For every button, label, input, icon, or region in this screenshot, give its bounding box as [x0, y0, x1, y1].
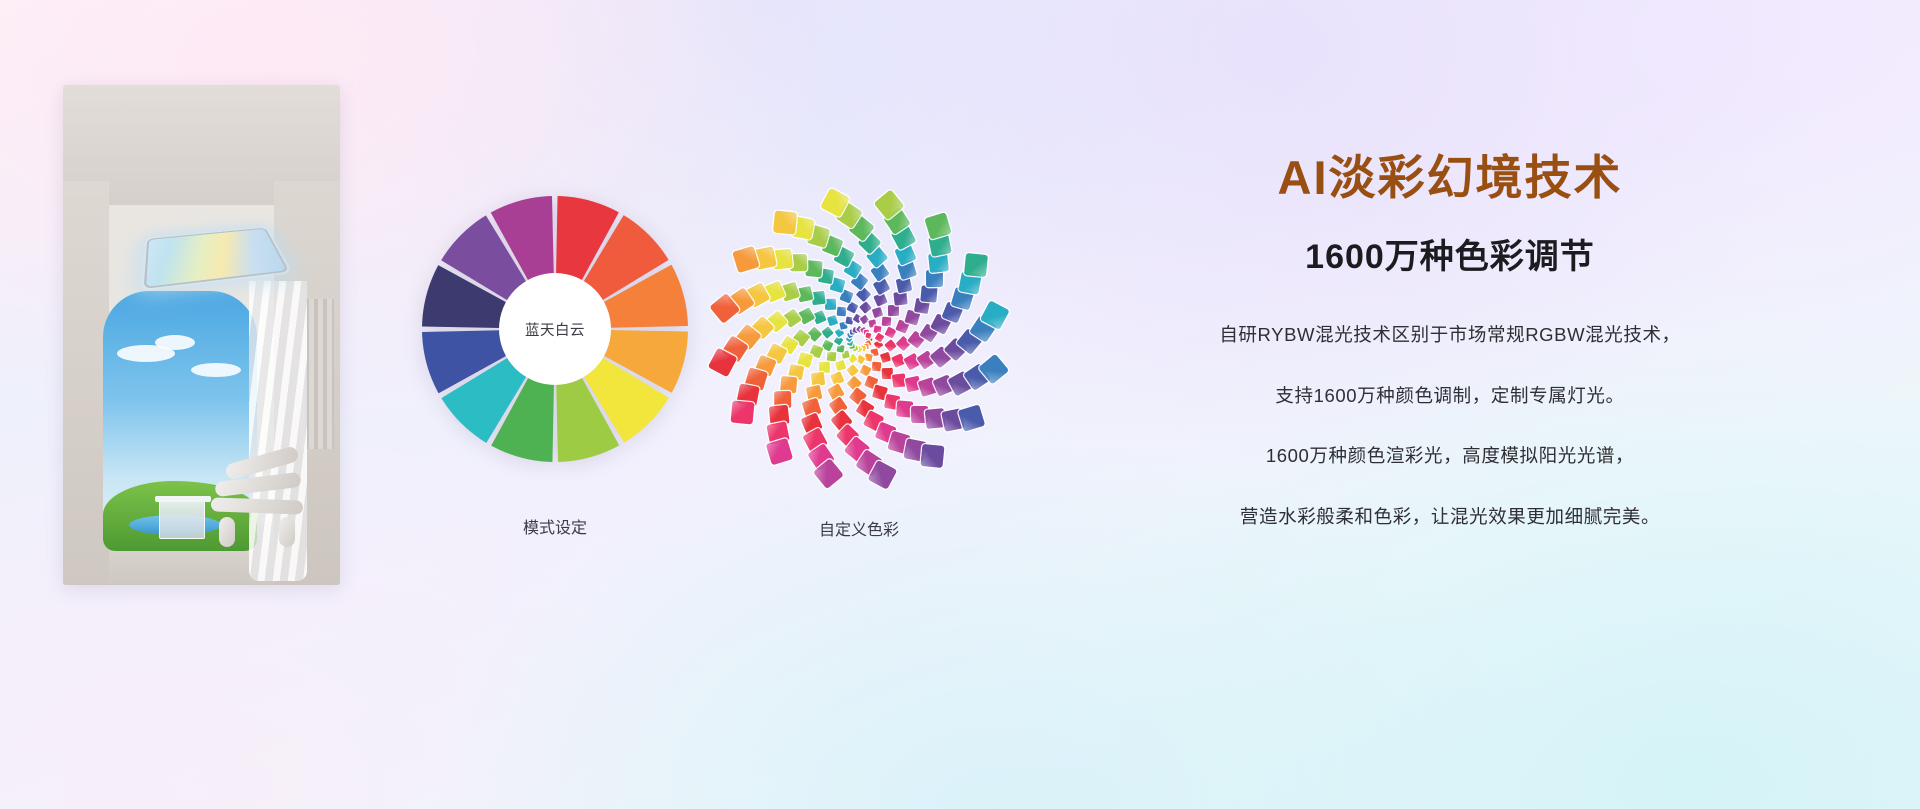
cloud-icon — [155, 335, 195, 350]
pinwheel-tile — [964, 253, 987, 276]
pinwheel-tile — [846, 364, 859, 377]
pinwheel-tile — [827, 352, 837, 362]
pinwheel-tile — [872, 361, 882, 371]
pinwheel-tile — [873, 292, 887, 306]
custom-color-figure: 自定义色彩 — [716, 196, 1002, 546]
mode-wheel-caption: 模式设定 — [422, 514, 688, 538]
cloud-icon — [191, 363, 241, 377]
color-pinwheel[interactable] — [716, 196, 1002, 482]
side-table — [159, 499, 205, 539]
pinwheel-tile — [921, 444, 944, 467]
color-wheel[interactable]: 蓝天白云 — [422, 196, 688, 462]
copy-block: AI淡彩幻境技术 1600万种色彩调节 自研RYBW混光技术区别于市场常规RGB… — [1020, 150, 1880, 526]
pinwheel-tile — [835, 360, 846, 371]
pinwheel-tile — [893, 292, 907, 306]
pinwheel-tile — [826, 315, 837, 326]
pinwheel-tile — [797, 285, 814, 302]
pinwheel-tile — [896, 277, 913, 294]
pinwheel-tile — [882, 368, 893, 379]
page-title: AI淡彩幻境技术 — [1020, 150, 1880, 205]
pinwheel-tile — [836, 307, 846, 317]
lounge-chair — [209, 455, 313, 547]
pinwheel-tile — [926, 270, 943, 287]
pinwheel-tile — [891, 353, 905, 367]
pinwheel-tile — [959, 405, 986, 432]
pinwheel-tile — [888, 305, 899, 316]
body-line: 自研RYBW混光技术区别于市场常规RGBW混光技术， — [1020, 326, 1880, 345]
pinwheel-tile — [884, 339, 897, 352]
body-copy: 自研RYBW混光技术区别于市场常规RGBW混光技术， 支持1600万种颜色调制，… — [1020, 326, 1880, 526]
body-line: 1600万种颜色渲彩光，高度模拟阳光光谱， — [1020, 447, 1880, 466]
pinwheel-tile — [805, 260, 822, 277]
body-line: 支持1600万种颜色调制，定制专属灯光。 — [1020, 387, 1880, 406]
pinwheel-tile — [731, 401, 754, 424]
pinwheel-tile — [873, 278, 890, 295]
pinwheel-tile — [881, 316, 891, 326]
pinwheel-tile — [880, 351, 891, 362]
pinwheel-tile — [773, 211, 796, 234]
pinwheel-tile — [766, 439, 793, 466]
color-wheel-hub[interactable]: 蓝天白云 — [504, 278, 606, 380]
pinwheel-tile — [807, 327, 822, 342]
pinwheel-tile — [819, 362, 830, 373]
pinwheel-tile — [821, 326, 834, 339]
pinwheel-tile — [859, 301, 872, 314]
pinwheel-tile — [921, 285, 938, 302]
page-subtitle: 1600万种色彩调节 — [1020, 229, 1880, 278]
ceiling-light-panel — [144, 228, 290, 289]
pinwheel-tile — [871, 306, 882, 317]
product-photo — [63, 85, 340, 585]
pinwheel-tile — [790, 254, 807, 271]
body-line: 营造水彩般柔和色彩，让混光效果更加细腻完美。 — [1020, 508, 1880, 527]
custom-color-caption: 自定义色彩 — [716, 516, 1002, 540]
pinwheel-tile — [825, 299, 836, 310]
mode-wheel-figure: 蓝天白云 模式设定 — [422, 196, 688, 546]
pinwheel-tile — [812, 291, 826, 305]
pinwheel-tile — [865, 353, 873, 361]
color-wheel-hub-label: 蓝天白云 — [525, 319, 585, 340]
